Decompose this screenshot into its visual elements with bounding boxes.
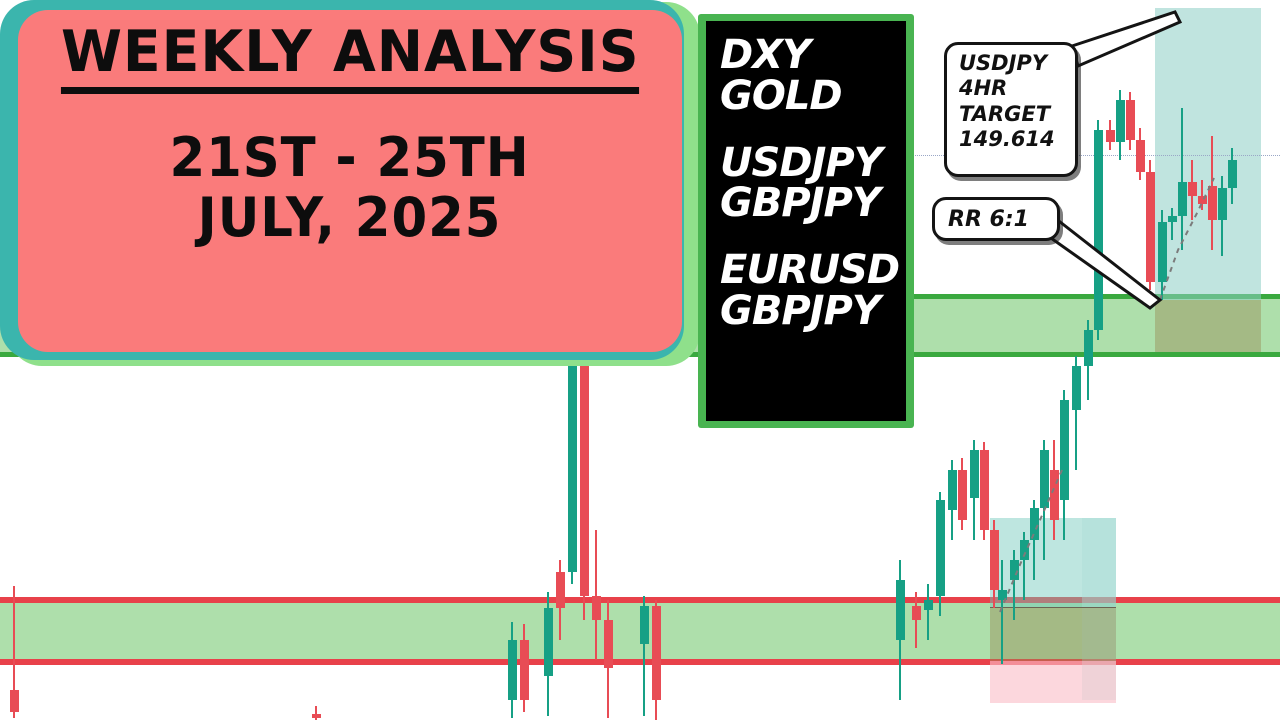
candle-body: [1050, 470, 1059, 520]
candle-body: [640, 606, 649, 644]
candlestick: [1040, 440, 1049, 560]
candle-body: [312, 714, 321, 718]
callout-target-line1: USDJPY: [959, 51, 1075, 76]
candlestick: [1094, 120, 1103, 340]
candle-body: [1178, 182, 1187, 216]
pair-label-gbpjpy[interactable]: GBPJPY: [720, 291, 906, 332]
candlestick: [948, 460, 957, 540]
candlestick: [1158, 210, 1167, 300]
candle-body: [1146, 172, 1155, 282]
candlestick: [568, 352, 577, 584]
candle-body: [508, 640, 517, 700]
candle-wick: [1201, 180, 1203, 210]
candle-body: [1084, 330, 1093, 366]
candle-body: [1136, 140, 1145, 172]
candle-body: [936, 500, 945, 596]
candlestick: [1106, 120, 1115, 150]
pair-label-gbpjpy[interactable]: GBPJPY: [720, 183, 906, 224]
candle-body: [1168, 216, 1177, 222]
page-title: WEEKLY ANALYSIS: [61, 24, 640, 94]
candle-body: [980, 450, 989, 530]
candlestick: [10, 586, 19, 718]
candle-wick: [927, 584, 929, 640]
candlestick: [958, 458, 967, 530]
candlestick: [1060, 390, 1069, 540]
candlestick: [970, 440, 979, 540]
candle-wick: [595, 530, 597, 660]
pair-label-gold[interactable]: GOLD: [720, 76, 906, 117]
candlestick: [1084, 320, 1093, 400]
candlestick: [544, 592, 553, 716]
candle-body: [1116, 100, 1125, 142]
pairs-panel[interactable]: DXYGOLDUSDJPYGBPJPYEURUSDGBPJPY: [706, 21, 906, 421]
candle-body: [1208, 186, 1217, 220]
candle-body: [520, 640, 529, 700]
candlestick: [1050, 440, 1059, 540]
candle-body: [1228, 160, 1237, 188]
candle-body: [1094, 130, 1103, 330]
date-range-text: 21ST - 25TH JULY, 2025: [170, 128, 530, 249]
candlestick: [1188, 160, 1197, 220]
candlestick: [604, 600, 613, 718]
candlestick: [1116, 90, 1125, 160]
candlestick: [998, 560, 1007, 664]
usdjpy-target-callout: USDJPY 4HR TARGET 149.614: [944, 42, 1078, 177]
candlestick: [1218, 176, 1227, 256]
candlestick: [580, 354, 589, 620]
candle-body: [958, 470, 967, 520]
candlestick: [1072, 356, 1081, 470]
pair-group-2: EURUSDGBPJPY: [720, 250, 906, 332]
candlestick: [1020, 532, 1029, 600]
candlestick: [1126, 92, 1135, 150]
candle-body: [604, 620, 613, 668]
pair-label-usdjpy[interactable]: USDJPY: [720, 143, 906, 184]
candlestick: [1136, 128, 1145, 180]
candlestick: [312, 706, 321, 720]
candle-body: [1218, 188, 1227, 220]
candle-wick: [1001, 560, 1003, 664]
risk-reward-label: RR 6:1: [948, 207, 1057, 232]
candlestick: [1208, 136, 1217, 250]
pair-label-dxy[interactable]: DXY: [720, 35, 906, 76]
candlestick: [1198, 180, 1207, 210]
risk-reward-callout: RR 6:1: [932, 197, 1060, 241]
candle-body: [948, 470, 957, 510]
candle-body: [896, 580, 905, 640]
candlestick: [1030, 500, 1039, 580]
candlestick: [936, 492, 945, 616]
candle-body: [1040, 450, 1049, 508]
callout-target-line3: TARGET: [959, 102, 1075, 127]
candle-body: [1060, 400, 1069, 500]
weekly-analysis-banner: WEEKLY ANALYSIS 21ST - 25TH JULY, 2025: [18, 10, 682, 352]
candlestick: [508, 622, 517, 718]
pair-label-eurusd[interactable]: EURUSD: [720, 250, 906, 291]
candle-body: [1106, 130, 1115, 142]
candle-body: [1126, 100, 1135, 140]
candle-body: [580, 360, 589, 596]
candlestick: [520, 624, 529, 712]
candle-body: [556, 572, 565, 608]
candle-body: [912, 606, 921, 620]
candle-body: [1030, 508, 1039, 540]
candlestick: [896, 560, 905, 700]
candlestick: [592, 530, 601, 660]
candle-body: [998, 590, 1007, 600]
candle-wick: [1181, 108, 1183, 250]
candle-body: [568, 360, 577, 572]
candle-wick: [1171, 208, 1173, 240]
candle-body: [592, 596, 601, 620]
candle-body: [1072, 366, 1081, 410]
candlestick: [652, 600, 661, 720]
candlestick: [1178, 108, 1187, 250]
date-range-line2: JULY, 2025: [170, 188, 530, 248]
candle-body: [544, 608, 553, 676]
pair-group-0: DXYGOLD: [720, 35, 906, 117]
candlestick: [980, 442, 989, 540]
candlestick: [1228, 148, 1237, 204]
candlestick: [640, 596, 649, 716]
candle-body: [1010, 560, 1019, 580]
callout-target-line4: 149.614: [959, 127, 1075, 152]
candlestick: [924, 584, 933, 640]
candle-body: [924, 600, 933, 610]
candle-body: [1020, 540, 1029, 560]
candlestick: [912, 592, 921, 648]
callout-target-line2: 4HR: [959, 76, 1075, 101]
pair-group-1: USDJPYGBPJPY: [720, 143, 906, 225]
screenshot-root: WEEKLY ANALYSIS 21ST - 25TH JULY, 2025 D…: [0, 0, 1280, 720]
candlestick: [1146, 160, 1155, 290]
candlestick: [556, 560, 565, 640]
candle-body: [1198, 196, 1207, 204]
candlestick: [1168, 208, 1177, 240]
candle-body: [652, 606, 661, 700]
candle-wick: [915, 592, 917, 648]
candle-body: [970, 450, 979, 498]
date-range-line1: 21ST - 25TH: [170, 128, 530, 188]
trade-stop-box: [990, 661, 1116, 703]
upper-entry-block: [1155, 300, 1261, 352]
candle-body: [1158, 222, 1167, 282]
candle-body: [10, 690, 19, 712]
candlestick: [1010, 550, 1019, 620]
candle-body: [1188, 182, 1197, 196]
